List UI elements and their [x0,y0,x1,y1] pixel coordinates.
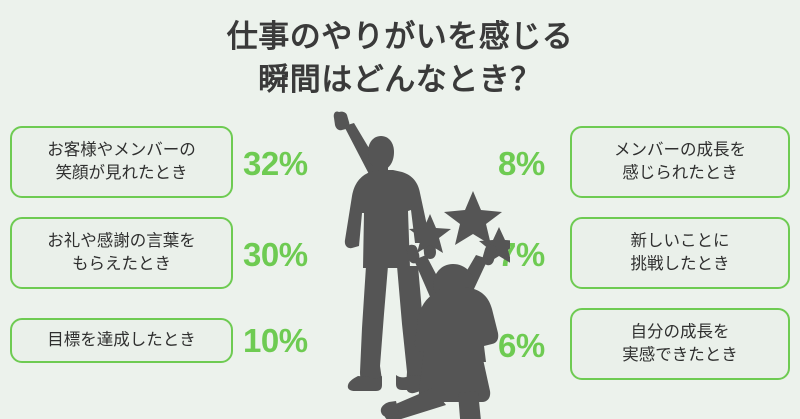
right-item-3-label: 自分の成長を 実感できたとき [622,321,738,368]
celebration-illustration [325,88,510,419]
left-item-1-percent: 32% [243,147,325,180]
left-item-1-label: お客様やメンバーの 笑顔が見れたとき [47,139,196,186]
right-item-1-box: メンバーの成長を 感じられたとき [570,126,790,198]
right-item-2-label: 新しいことに 挑戦したとき [631,230,730,277]
left-item-2-percent: 30% [243,238,325,271]
left-item-2-box: お礼や感謝の言葉を もらえたとき [10,217,233,289]
star-large-center [444,191,502,245]
left-item-3-box: 目標を達成したとき [10,318,233,363]
right-item-1-label: メンバーの成長を 感じられたとき [614,139,746,186]
title-line-1: 仕事のやりがいを感じる [0,16,800,59]
left-item-3-label: 目標を達成したとき [47,329,196,352]
left-item-1-box: お客様やメンバーの 笑顔が見れたとき [10,126,233,198]
left-item-3-percent: 10% [243,324,325,357]
infographic-canvas: 仕事のやりがいを感じる 瞬間はどんなとき？ お客様やメンバーの 笑顔が見れたとき… [0,0,800,419]
right-item-2-box: 新しいことに 挑戦したとき [570,217,790,289]
right-item-3-box: 自分の成長を 実感できたとき [570,308,790,380]
left-item-2-label: お礼や感謝の言葉を もらえたとき [47,230,196,277]
